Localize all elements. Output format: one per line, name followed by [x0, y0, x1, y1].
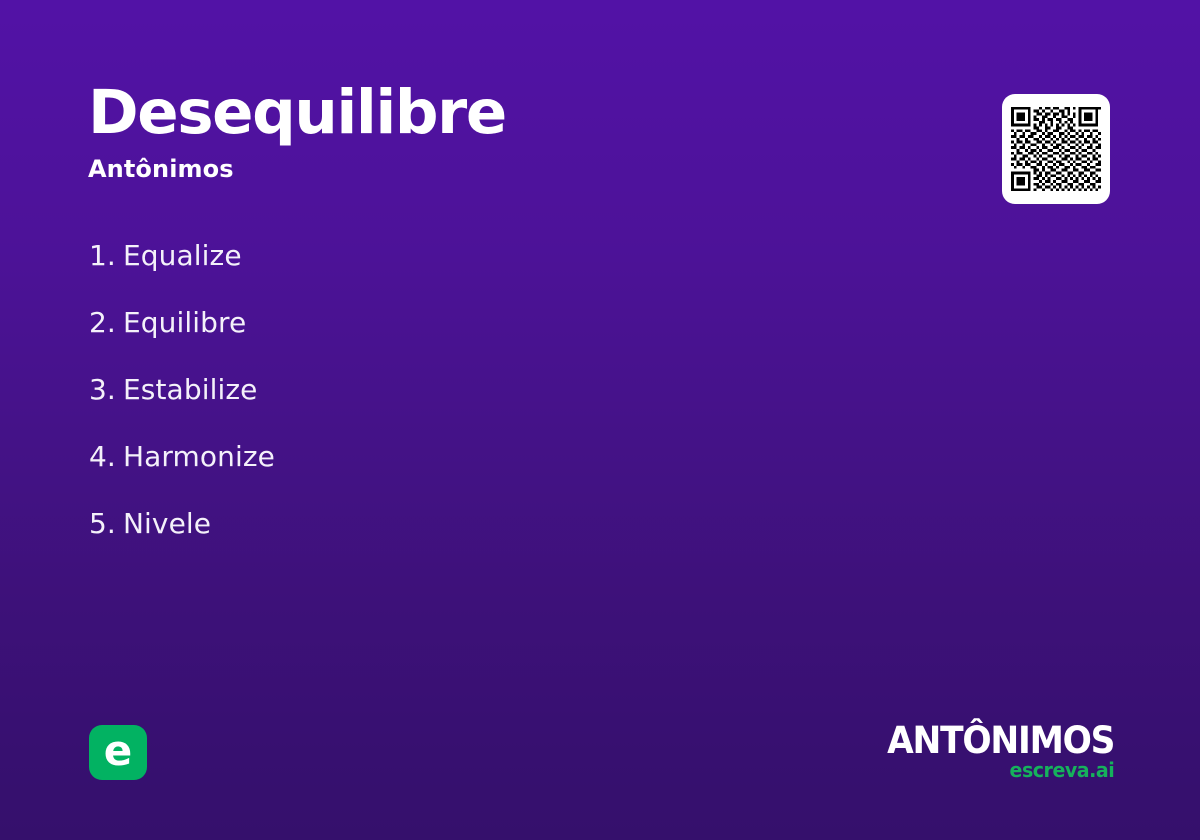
wordmark-subtitle: escreva.ai: [882, 760, 1114, 780]
list-item-label: Equalize: [123, 239, 242, 272]
list-item-label: Harmonize: [123, 440, 275, 473]
list-item-label: Equilibre: [123, 306, 246, 339]
list-item-index: 4.: [89, 437, 123, 477]
list-item: 1.Equalize: [89, 236, 275, 303]
list-item-index: 2.: [89, 303, 123, 343]
list-item-index: 1.: [89, 236, 123, 276]
list-item-label: Estabilize: [123, 373, 257, 406]
list-item: 4.Harmonize: [89, 437, 275, 504]
escreva-e-logo-icon: e: [89, 725, 147, 780]
antonyms-word-card: Desequilibre Antônimos 1.Equalize 2.Equi…: [0, 0, 1200, 840]
brand-badge-letter: e: [104, 730, 133, 772]
card-header: Desequilibre Antônimos: [88, 82, 848, 183]
qr-code-icon[interactable]: [1011, 103, 1101, 195]
qr-code-container[interactable]: [1002, 94, 1110, 204]
brand-wordmark: ANTÔNIMOS escreva.ai: [870, 722, 1114, 780]
page-subtitle: Antônimos: [88, 155, 848, 183]
wordmark-title: ANTÔNIMOS: [887, 722, 1114, 759]
list-item: 5.Nivele: [89, 504, 275, 571]
list-item-label: Nivele: [123, 507, 211, 540]
list-item: 2.Equilibre: [89, 303, 275, 370]
list-item-index: 5.: [89, 504, 123, 544]
page-title: Desequilibre: [88, 82, 848, 143]
list-item-index: 3.: [89, 370, 123, 410]
antonym-list: 1.Equalize 2.Equilibre 3.Estabilize 4.Ha…: [89, 236, 275, 571]
list-item: 3.Estabilize: [89, 370, 275, 437]
